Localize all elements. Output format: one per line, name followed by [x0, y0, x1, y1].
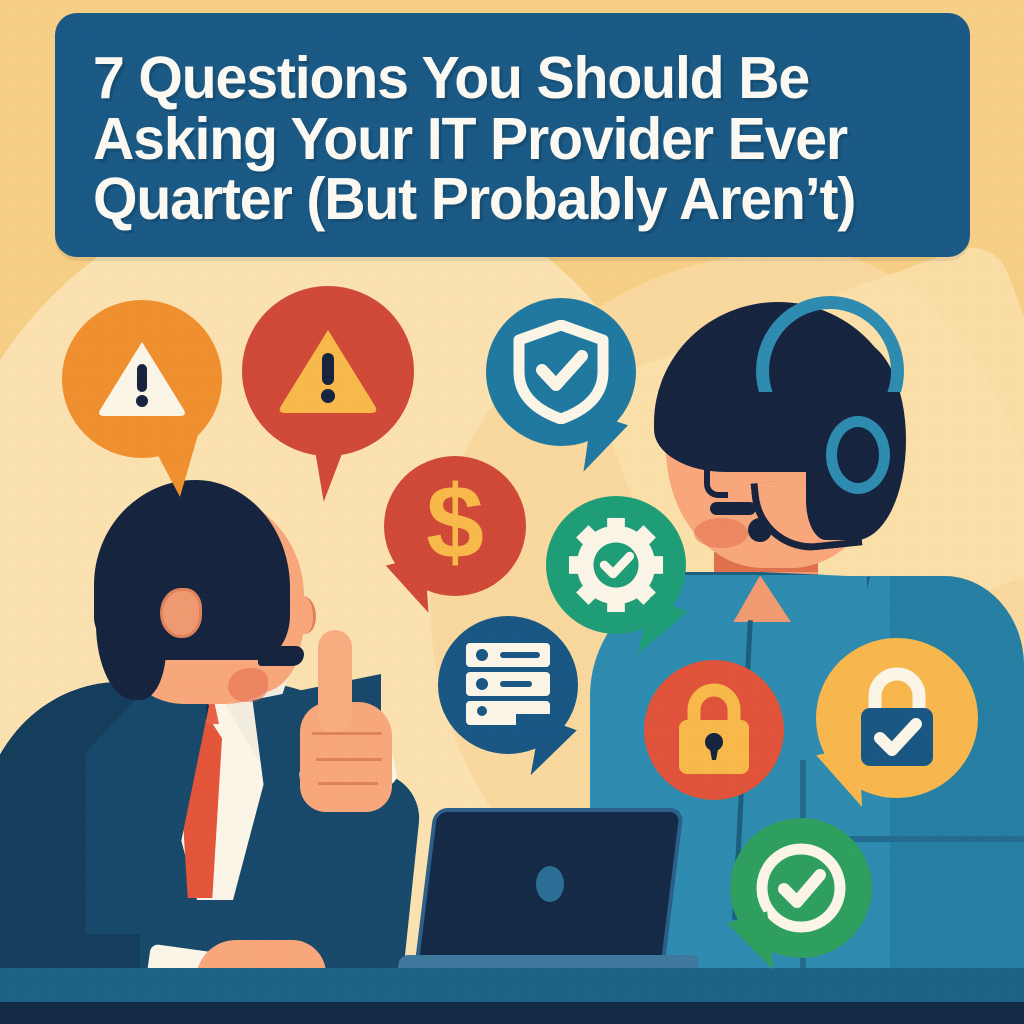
- it-provider-cheek: [694, 518, 748, 548]
- title-line-3: Quarter (But Probably Aren’t): [93, 169, 918, 230]
- bubble-server: [438, 616, 578, 754]
- client-cheek: [228, 668, 268, 702]
- desk-surface: [0, 968, 1024, 1004]
- title-banner: 7 Questions You Should Be Asking Your IT…: [55, 13, 970, 257]
- eyeglasses-bridge-icon: [736, 418, 748, 425]
- bubble-dollar: $: [384, 456, 526, 596]
- svg-text:$: $: [426, 472, 484, 580]
- bubble-warning-red: [242, 286, 414, 456]
- laptop-logo-icon: [536, 866, 564, 902]
- padlock-icon: [671, 680, 757, 780]
- client-nose: [292, 596, 316, 634]
- client-mouth: [258, 646, 304, 666]
- headset-mic-tip-icon: [748, 518, 772, 542]
- warning-triangle-icon: [96, 338, 188, 420]
- bubble-circle-check: [730, 818, 872, 958]
- bubble-warning-orange: [62, 300, 222, 458]
- it-provider-eye-right: [766, 426, 780, 442]
- title-line-2: Asking Your IT Provider Ever: [93, 109, 918, 170]
- client-eye: [250, 580, 265, 599]
- warning-triangle-icon: [276, 325, 380, 417]
- poster-canvas: 7 Questions You Should Be Asking Your IT…: [0, 0, 1024, 1024]
- client-ear: [160, 588, 202, 638]
- client-knuckle-line-1: [312, 732, 382, 735]
- client-knuckle-line-2: [316, 758, 382, 761]
- title-line-1: 7 Questions You Should Be: [93, 48, 918, 109]
- client-hair-back: [96, 560, 166, 700]
- desk-front-edge: [0, 1002, 1024, 1024]
- shield-check-icon: [513, 320, 609, 424]
- server-stack-icon: [462, 641, 554, 729]
- bubble-padlock-check: [816, 638, 978, 798]
- it-provider-eye-left: [702, 428, 715, 443]
- bubble-gear-check: [546, 496, 686, 634]
- bubble-tail: [308, 435, 349, 503]
- it-provider-nose: [704, 454, 728, 498]
- client-pointing-finger: [318, 630, 352, 734]
- bubble-shield-check: [486, 298, 636, 446]
- it-provider-mouth: [710, 502, 756, 515]
- bubble-padlock: [644, 660, 784, 800]
- eyeglasses-right-lens-icon: [742, 404, 818, 460]
- client-knuckle-line-3: [318, 782, 378, 785]
